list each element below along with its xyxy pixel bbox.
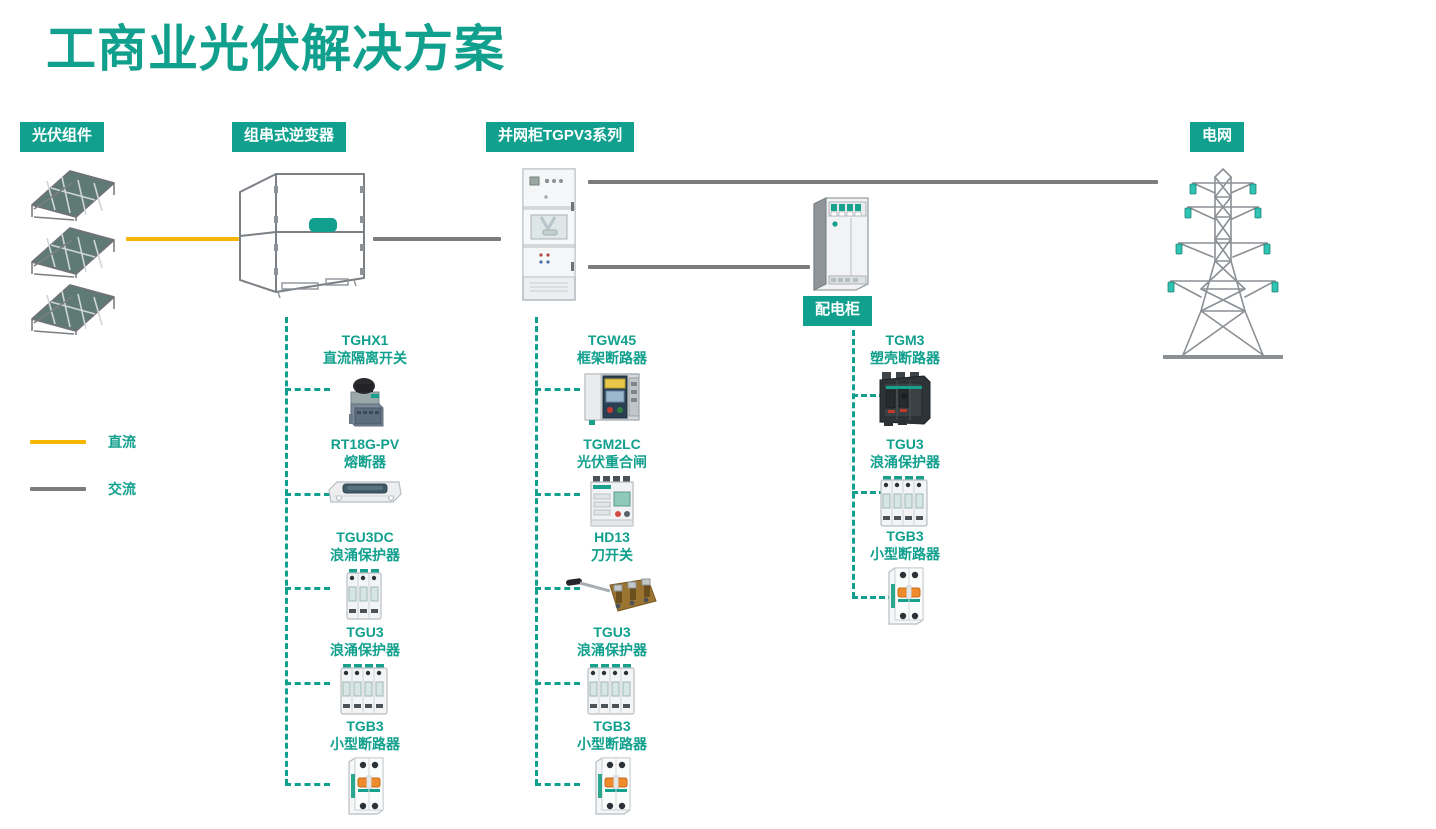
knife-switch-icon bbox=[527, 567, 697, 625]
component-tgb3-grid[interactable]: TGB3 小型断路器 bbox=[527, 718, 697, 814]
grid-connect-cabinet-equipment bbox=[521, 167, 577, 302]
legend-swatch-ac bbox=[30, 487, 86, 491]
component-kind: 小型断路器 bbox=[280, 736, 450, 754]
stage-chip-pv-modules[interactable]: 光伏组件 bbox=[20, 122, 104, 152]
component-tgu3dc[interactable]: TGU3DC 浪涌保护器 bbox=[280, 529, 450, 625]
mccb-icon bbox=[820, 370, 990, 428]
legend-item-ac: 交流 bbox=[30, 479, 136, 499]
component-kind: 框架断路器 bbox=[527, 350, 697, 368]
mcb-2p-icon bbox=[527, 756, 697, 814]
component-model: RT18G-PV bbox=[280, 436, 450, 454]
ac-flow-line-inverter-to-grid-cabinet bbox=[373, 237, 501, 241]
component-model: TGU3 bbox=[820, 436, 990, 454]
component-kind: 直流隔离开关 bbox=[280, 350, 450, 368]
component-tgb3-distribution[interactable]: TGB3 小型断路器 bbox=[820, 528, 990, 624]
legend-swatch-dc bbox=[30, 440, 86, 444]
acb-icon bbox=[527, 370, 697, 428]
spd-3p-icon bbox=[280, 567, 450, 625]
component-model: TGHX1 bbox=[280, 332, 450, 350]
component-model: TGM3 bbox=[820, 332, 990, 350]
fuse-holder-icon bbox=[280, 474, 450, 532]
component-tgu3-distribution[interactable]: TGU3 浪涌保护器 bbox=[820, 436, 990, 532]
diagram-canvas: 工商业光伏解决方案 光伏组件 组串式逆变器 并网柜TGPV3系列 配电柜 电网 … bbox=[0, 0, 1436, 829]
component-model: TGB3 bbox=[527, 718, 697, 736]
spd-4p-icon bbox=[280, 662, 450, 720]
spd-4p-icon bbox=[527, 662, 697, 720]
stage-chip-distribution[interactable]: 配电柜 bbox=[803, 296, 872, 326]
component-kind: 浪涌保护器 bbox=[527, 642, 697, 660]
component-model: TGU3 bbox=[280, 624, 450, 642]
component-kind: 浪涌保护器 bbox=[280, 642, 450, 660]
stage-chip-inverter[interactable]: 组串式逆变器 bbox=[232, 122, 346, 152]
component-tghx1[interactable]: TGHX1 直流隔离开关 bbox=[280, 332, 450, 428]
component-kind: 光伏重合闸 bbox=[527, 454, 697, 472]
component-hd13[interactable]: HD13 刀开关 bbox=[527, 529, 697, 625]
component-kind: 塑壳断路器 bbox=[820, 350, 990, 368]
pv-array-panel-1 bbox=[24, 165, 120, 221]
string-inverter-equipment bbox=[234, 170, 370, 300]
component-rt18g-pv[interactable]: RT18G-PV 熔断器 bbox=[280, 436, 450, 532]
spd-4p-icon bbox=[820, 474, 990, 532]
component-tgu3-grid[interactable]: TGU3 浪涌保护器 bbox=[527, 624, 697, 720]
stage-chip-power-grid[interactable]: 电网 bbox=[1190, 122, 1244, 152]
component-tgm2lc[interactable]: TGM2LC 光伏重合闸 bbox=[527, 436, 697, 532]
component-model: TGU3DC bbox=[280, 529, 450, 547]
recloser-icon bbox=[527, 474, 697, 532]
component-model: TGW45 bbox=[527, 332, 697, 350]
component-model: TGB3 bbox=[280, 718, 450, 736]
component-kind: 小型断路器 bbox=[820, 546, 990, 564]
legend-label-ac: 交流 bbox=[108, 479, 136, 499]
component-kind: 熔断器 bbox=[280, 454, 450, 472]
component-kind: 浪涌保护器 bbox=[820, 454, 990, 472]
component-model: TGB3 bbox=[820, 528, 990, 546]
rotary-isolator-icon bbox=[280, 370, 450, 428]
stage-chip-grid-cabinet[interactable]: 并网柜TGPV3系列 bbox=[486, 122, 634, 152]
ac-flow-line-grid-cabinet-to-tower bbox=[588, 180, 1158, 184]
component-model: TGU3 bbox=[527, 624, 697, 642]
dc-flow-line-pv-to-inverter bbox=[126, 237, 239, 241]
mcb-2p-icon bbox=[820, 566, 990, 624]
mcb-2p-icon bbox=[280, 756, 450, 814]
distribution-cabinet-equipment bbox=[810, 196, 870, 292]
component-model: TGM2LC bbox=[527, 436, 697, 454]
page-title: 工商业光伏解决方案 bbox=[46, 24, 505, 74]
pv-array-panel-2 bbox=[24, 222, 120, 278]
transmission-tower-equipment bbox=[1155, 165, 1290, 360]
component-model: HD13 bbox=[527, 529, 697, 547]
pv-array-panel-3 bbox=[24, 279, 120, 335]
component-tgw45[interactable]: TGW45 框架断路器 bbox=[527, 332, 697, 428]
component-kind: 小型断路器 bbox=[527, 736, 697, 754]
component-kind: 刀开关 bbox=[527, 547, 697, 565]
legend-label-dc: 直流 bbox=[108, 432, 136, 452]
component-kind: 浪涌保护器 bbox=[280, 547, 450, 565]
component-tgb3-inverter[interactable]: TGB3 小型断路器 bbox=[280, 718, 450, 814]
component-tgm3[interactable]: TGM3 塑壳断路器 bbox=[820, 332, 990, 428]
ac-flow-line-grid-cabinet-to-distribution bbox=[588, 265, 810, 269]
component-tgu3-inverter[interactable]: TGU3 浪涌保护器 bbox=[280, 624, 450, 720]
legend-item-dc: 直流 bbox=[30, 432, 136, 452]
